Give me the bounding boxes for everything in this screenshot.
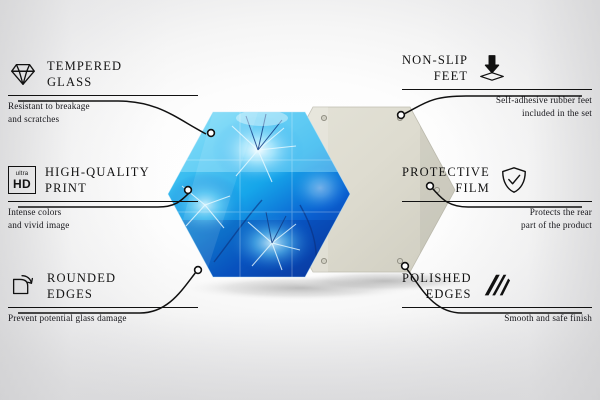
feature-rounded-edges: ROUNDED EDGES Prevent potential glass da…	[8, 268, 198, 325]
feature-title: POLISHED EDGES	[402, 270, 472, 302]
divider	[8, 95, 198, 96]
feature-description: Protects the rear part of the product	[402, 206, 592, 232]
infographic-canvas: TEMPERED GLASS Resistant to breakage and…	[0, 0, 600, 400]
divider	[402, 89, 592, 90]
feature-high-quality-print: ultra HD HIGH-QUALITY PRINT Intense colo…	[8, 162, 198, 232]
feature-heading: ROUNDED EDGES	[8, 268, 198, 304]
feature-description: Prevent potential glass damage	[8, 312, 198, 325]
feature-heading: NON-SLIP FEET	[402, 50, 592, 86]
feature-polished-edges: POLISHED EDGES Smooth and safe finish	[402, 268, 592, 325]
feature-title: TEMPERED GLASS	[47, 58, 122, 90]
ultra-hd-icon: ultra HD	[8, 166, 36, 194]
feature-tempered-glass: TEMPERED GLASS Resistant to breakage and…	[8, 56, 198, 126]
feature-heading: POLISHED EDGES	[402, 268, 592, 304]
divider	[8, 201, 198, 202]
diagonal-stripes-icon	[481, 271, 511, 301]
rubber-foot	[321, 115, 326, 120]
feature-title: PROTECTIVE FILM	[402, 164, 490, 196]
rubber-foot	[321, 258, 326, 263]
divider	[402, 201, 592, 202]
feature-description: Self-adhesive rubber feet included in th…	[402, 94, 592, 120]
divider	[8, 307, 198, 308]
rounded-corner-icon	[8, 271, 38, 301]
rubber-foot	[397, 258, 402, 263]
arrow-down-pad-icon	[477, 53, 507, 83]
feature-description: Smooth and safe finish	[402, 312, 592, 325]
feature-non-slip-feet: NON-SLIP FEET Self-adhesive rubber feet …	[402, 50, 592, 120]
feature-protective-film: PROTECTIVE FILM Protects the rear part o…	[402, 162, 592, 232]
divider	[402, 307, 592, 308]
feature-description: Resistant to breakage and scratches	[8, 100, 198, 126]
feature-heading: TEMPERED GLASS	[8, 56, 198, 92]
feature-title: NON-SLIP FEET	[402, 52, 468, 84]
feature-title: HIGH-QUALITY PRINT	[45, 164, 150, 196]
feature-description: Intense colors and vivid image	[8, 206, 198, 232]
feature-heading: ultra HD HIGH-QUALITY PRINT	[8, 162, 198, 198]
feature-heading: PROTECTIVE FILM	[402, 162, 592, 198]
feature-title: ROUNDED EDGES	[47, 270, 116, 302]
diamond-icon	[8, 59, 38, 89]
shield-check-icon	[499, 165, 529, 195]
